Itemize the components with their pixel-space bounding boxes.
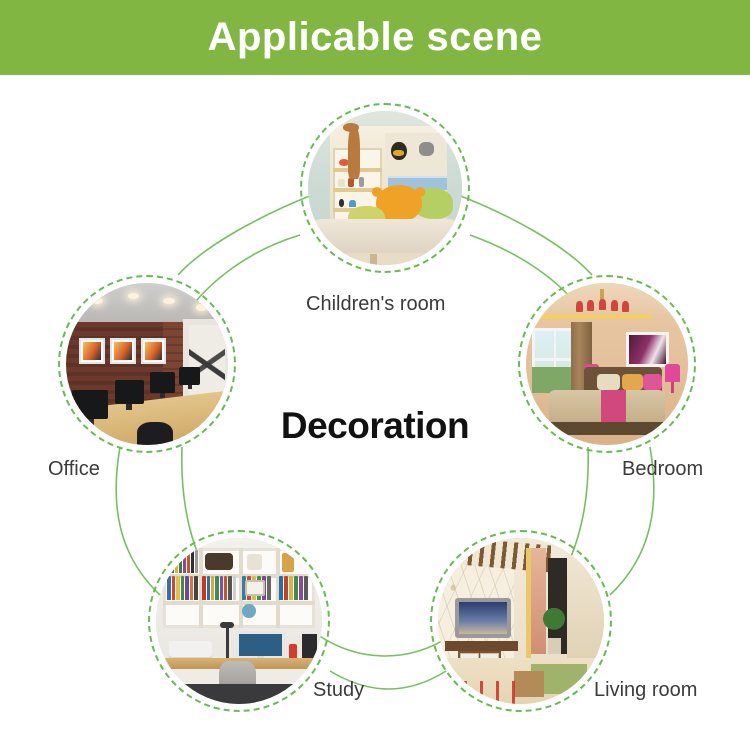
scene-ring-living xyxy=(430,530,612,712)
scene-diagram: Children's room xyxy=(0,75,750,750)
scene-ring-children xyxy=(300,103,470,273)
scene-label-office: Office xyxy=(48,458,100,481)
scene-label-bedroom: Bedroom xyxy=(622,458,703,481)
scene-ring-study xyxy=(148,530,330,712)
scene-node-children[interactable] xyxy=(300,103,470,273)
diagram-center-label: Decoration xyxy=(0,405,750,447)
page-title: Applicable scene xyxy=(208,15,543,60)
scene-node-living[interactable] xyxy=(430,530,612,712)
scene-label-study: Study xyxy=(313,679,364,702)
scene-label-children: Children's room xyxy=(306,293,445,316)
header-banner: Applicable scene xyxy=(0,0,750,75)
scene-label-living: Living room xyxy=(594,679,697,702)
scene-node-study[interactable] xyxy=(148,530,330,712)
